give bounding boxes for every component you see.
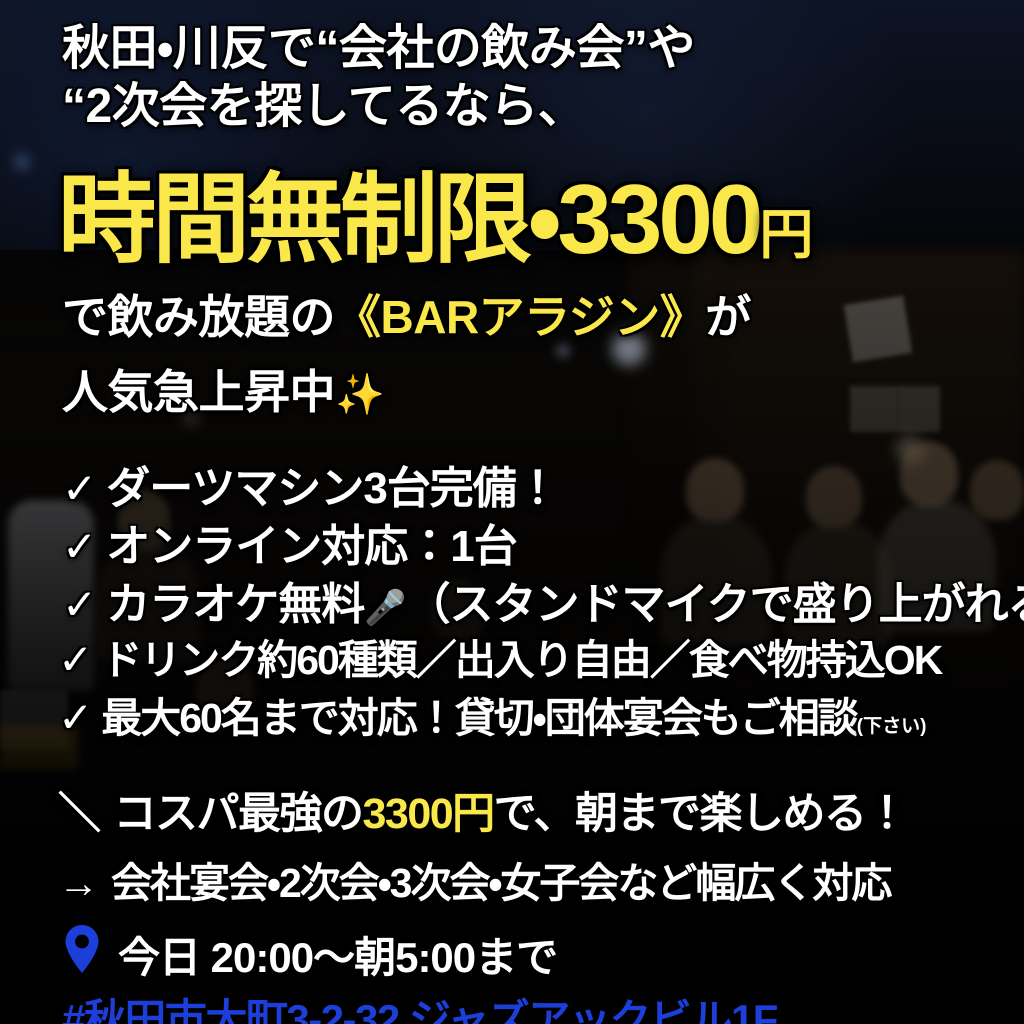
feature-label: カラオケ無料 <box>106 580 364 629</box>
check-icon: ✓ <box>62 464 96 513</box>
subhead-line-2: 人気急上昇中✨ <box>62 356 387 422</box>
feature-item-karaoke: ✓カラオケ無料🎤（スタンドマイクで盛り上がれる!） <box>62 568 1024 632</box>
feature-item-capacity: ✓最大60名まで対応！貸切・団体宴会もご相談(下さい) <box>58 684 926 744</box>
price-headline: 時間無制限・3300円 <box>58 140 813 282</box>
scope-label: 会社宴会・2次会・3次会・女子会など幅広く対応 <box>111 860 890 906</box>
feature-item-darts: ✓ダーツマシン3台完備！ <box>62 452 559 516</box>
check-icon: ✓ <box>58 693 91 742</box>
feature-label: ダーツマシン3台完備！ <box>106 464 559 513</box>
check-icon: ✓ <box>62 580 96 629</box>
scope-line: →会社宴会・2次会・3次会・女子会など幅広く対応 <box>58 849 890 909</box>
subhead-line-2-text: 人気急上昇中 <box>62 366 335 418</box>
address-line[interactable]: #秋田市大町3-2-32 ジャズアックビル1F <box>62 986 777 1024</box>
feature-item-online: ✓オンライン対応：1台 <box>62 510 517 574</box>
cta-suffix: で、朝まで楽しめる！ <box>494 790 907 838</box>
price-headline-unit: 円 <box>759 205 813 265</box>
price-headline-main: 時間無制限・3300 <box>58 164 759 274</box>
brand-name: 《BARアラジン》 <box>335 291 705 343</box>
feature-item-drinks: ✓ドリンク約60種類／出入り自由／食べ物持込OK <box>58 626 941 686</box>
feature-label-suffix: （スタンドマイクで盛り上がれる!） <box>407 580 1024 629</box>
arrow-right-icon: → <box>58 860 97 907</box>
feature-label: ドリンク約60種類／出入り自由／食べ物持込OK <box>101 637 941 683</box>
hook-line-2: “2次会を探してるなら、 <box>62 66 585 136</box>
subhead-suffix: が <box>705 291 751 343</box>
cta-line: ＼コスパ最強の3300円で、朝まで楽しめる！ <box>58 779 907 841</box>
location-pin-icon <box>64 925 100 973</box>
subhead-line-1: で飲み放題の《BARアラジン》が <box>62 281 751 347</box>
check-icon: ✓ <box>58 635 91 684</box>
sparkles-icon: ✨ <box>335 373 387 417</box>
cta-amount: 3300円 <box>363 790 494 838</box>
slash-icon: ＼ <box>58 779 100 841</box>
feature-note: (下さい) <box>857 716 927 737</box>
promo-poster: 秋田・川反で“会社の飲み会”や “2次会を探してるなら、 時間無制限・3300円… <box>0 0 1024 1024</box>
check-icon: ✓ <box>62 522 96 571</box>
hours-line: 今日 20:00〜朝5:00まで <box>118 924 557 985</box>
microphone-icon: 🎤 <box>364 589 406 627</box>
subhead-prefix: で飲み放題の <box>62 291 335 343</box>
poster-content: 秋田・川反で“会社の飲み会”や “2次会を探してるなら、 時間無制限・3300円… <box>0 0 1024 1024</box>
feature-label: 最大60名まで対応！貸切・団体宴会もご相談 <box>101 695 857 741</box>
feature-label: オンライン対応：1台 <box>106 522 516 571</box>
cta-prefix: コスパ最強の <box>114 790 363 838</box>
